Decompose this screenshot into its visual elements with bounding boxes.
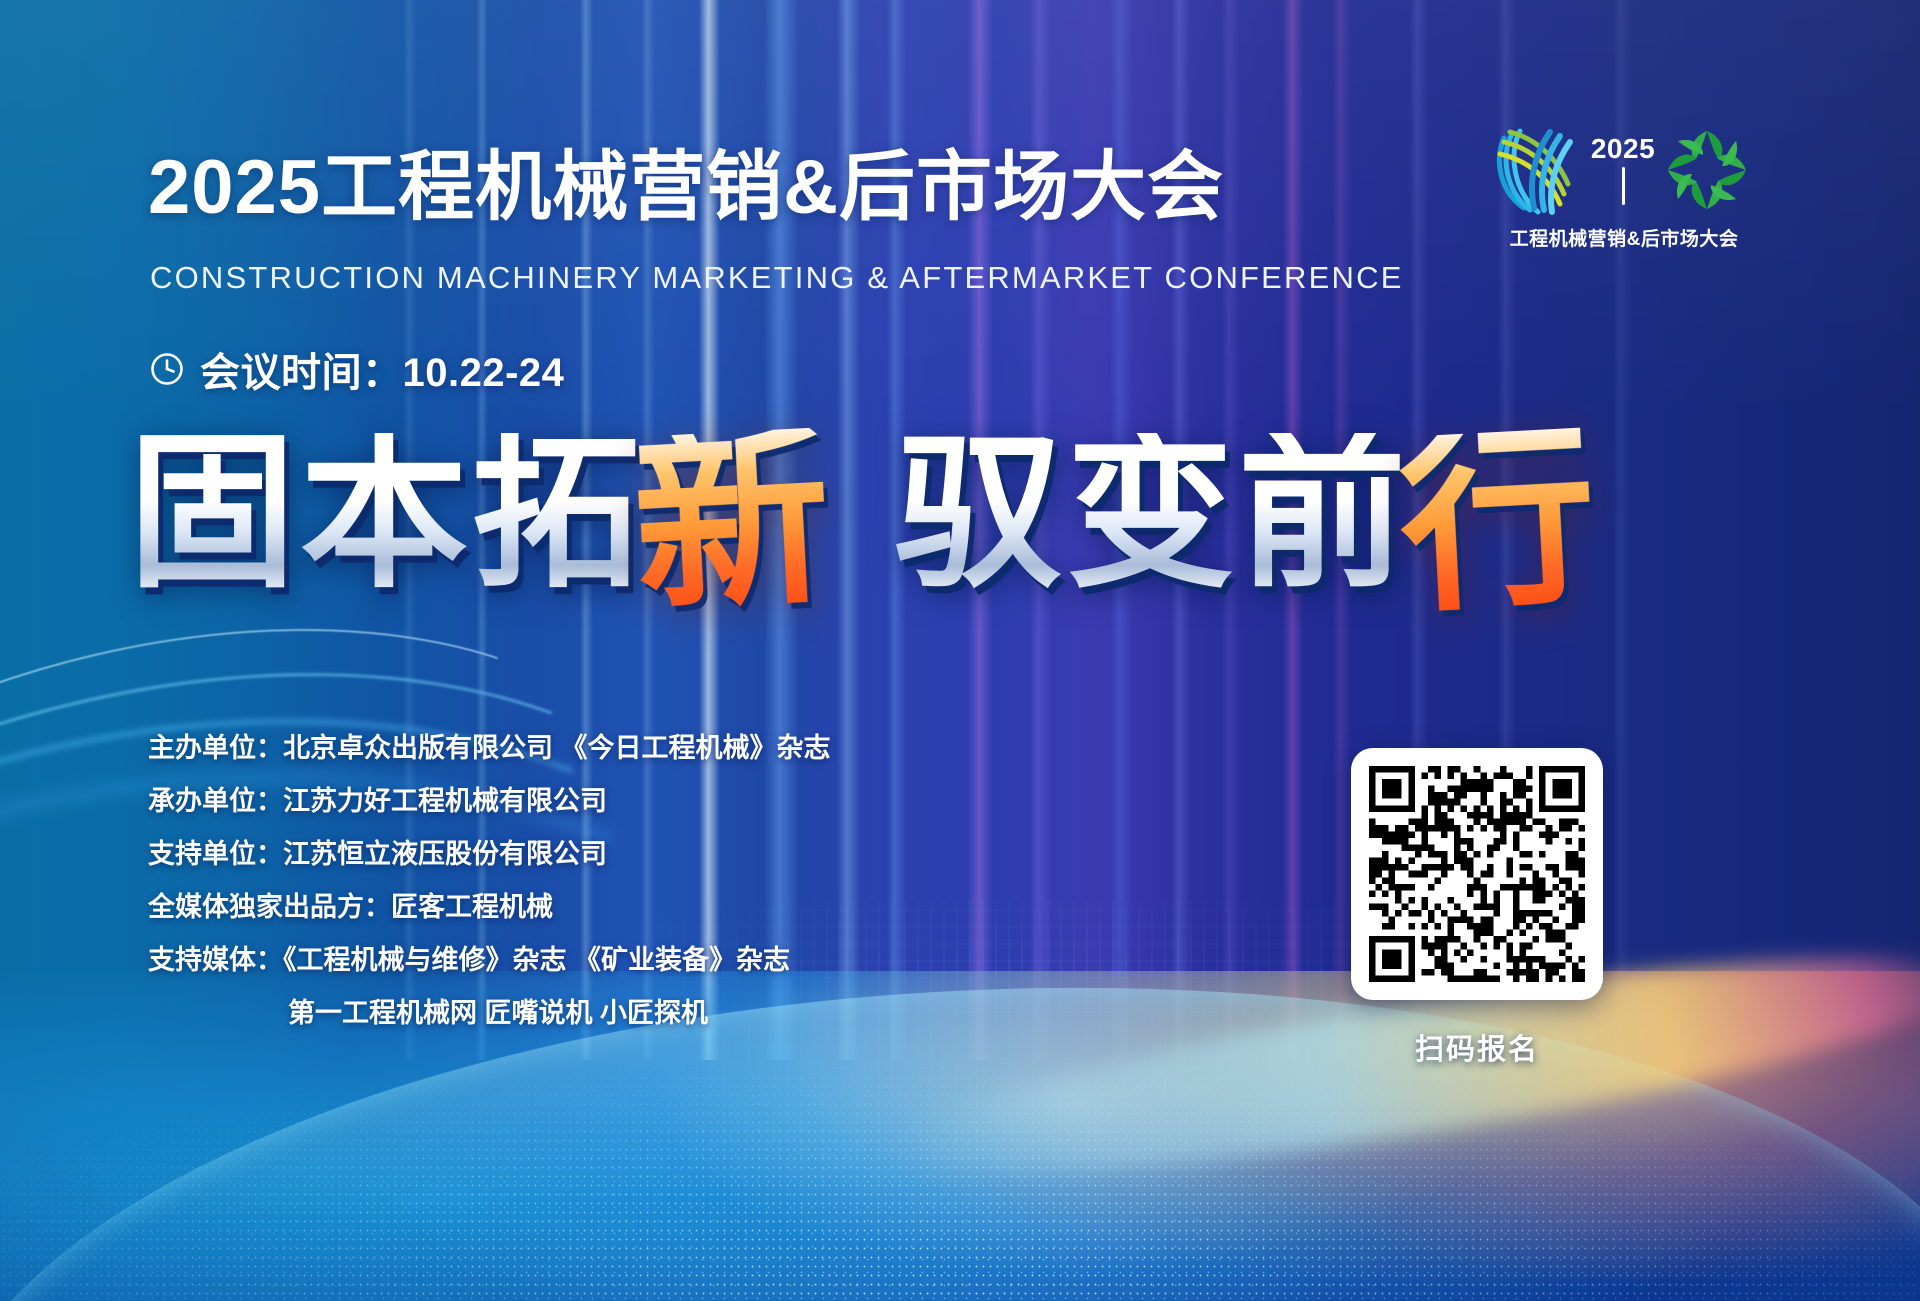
conference-poster: 2025工程机械营销&后市场大会 CONSTRUCTION MACHINERY … [0, 0, 1920, 1301]
organizer-line: 全媒体独家出品方：匠客工程机械 [148, 894, 831, 921]
logo-year: 2025 [1591, 135, 1655, 163]
logo-row: 2025 [1484, 118, 1764, 222]
page-title: 2025工程机械营销&后市场大会 [148, 150, 1224, 226]
slogan-accent-1: 新 [630, 427, 837, 614]
organizer-line: 第一工程机械网 匠嘴说机 小匠探机 [148, 1000, 831, 1027]
registration-qr-block: 扫码报名 [1351, 748, 1603, 1068]
page-subtitle-english: CONSTRUCTION MACHINERY MARKETING & AFTER… [150, 262, 1404, 293]
slogan-accent-2: 行 [1396, 427, 1603, 614]
organizer-list: 主办单位：北京卓众出版有限公司 《今日工程机械》杂志 承办单位：江苏力好工程机械… [148, 735, 831, 1053]
slogan-part-1: 固本拓 [128, 433, 644, 594]
logo-caption: 工程机械营销&后市场大会 [1484, 224, 1764, 251]
slogan: 固本拓 新 驭变前 行 [128, 418, 1588, 594]
clock-icon [150, 352, 184, 386]
organizer-line: 支持单位：江苏恒立液压股份有限公司 [148, 841, 831, 868]
woven-sphere-icon [1490, 122, 1582, 218]
qr-caption: 扫码报名 [1351, 1026, 1603, 1068]
slogan-part-2: 驭变前 [894, 433, 1410, 594]
organizer-line: 承办单位：江苏力好工程机械有限公司 [148, 788, 831, 815]
qr-card[interactable] [1351, 748, 1603, 1000]
organizer-line: 支持媒体：《工程机械与维修》杂志 《矿业装备》杂志 [148, 947, 831, 974]
poster-content: 2025工程机械营销&后市场大会 CONSTRUCTION MACHINERY … [0, 0, 1920, 1301]
vertical-divider-icon [1622, 167, 1625, 205]
organizer-line: 主办单位：北京卓众出版有限公司 《今日工程机械》杂志 [148, 735, 831, 762]
qr-code-icon[interactable] [1369, 766, 1585, 982]
logo-year-block: 2025 [1592, 135, 1654, 205]
green-swirl-icon [1664, 127, 1750, 213]
conference-logo: 2025 [1484, 118, 1764, 258]
meeting-time-row: 会议时间：10.22-24 [150, 340, 564, 398]
meeting-time-text: 会议时间：10.22-24 [200, 340, 564, 398]
